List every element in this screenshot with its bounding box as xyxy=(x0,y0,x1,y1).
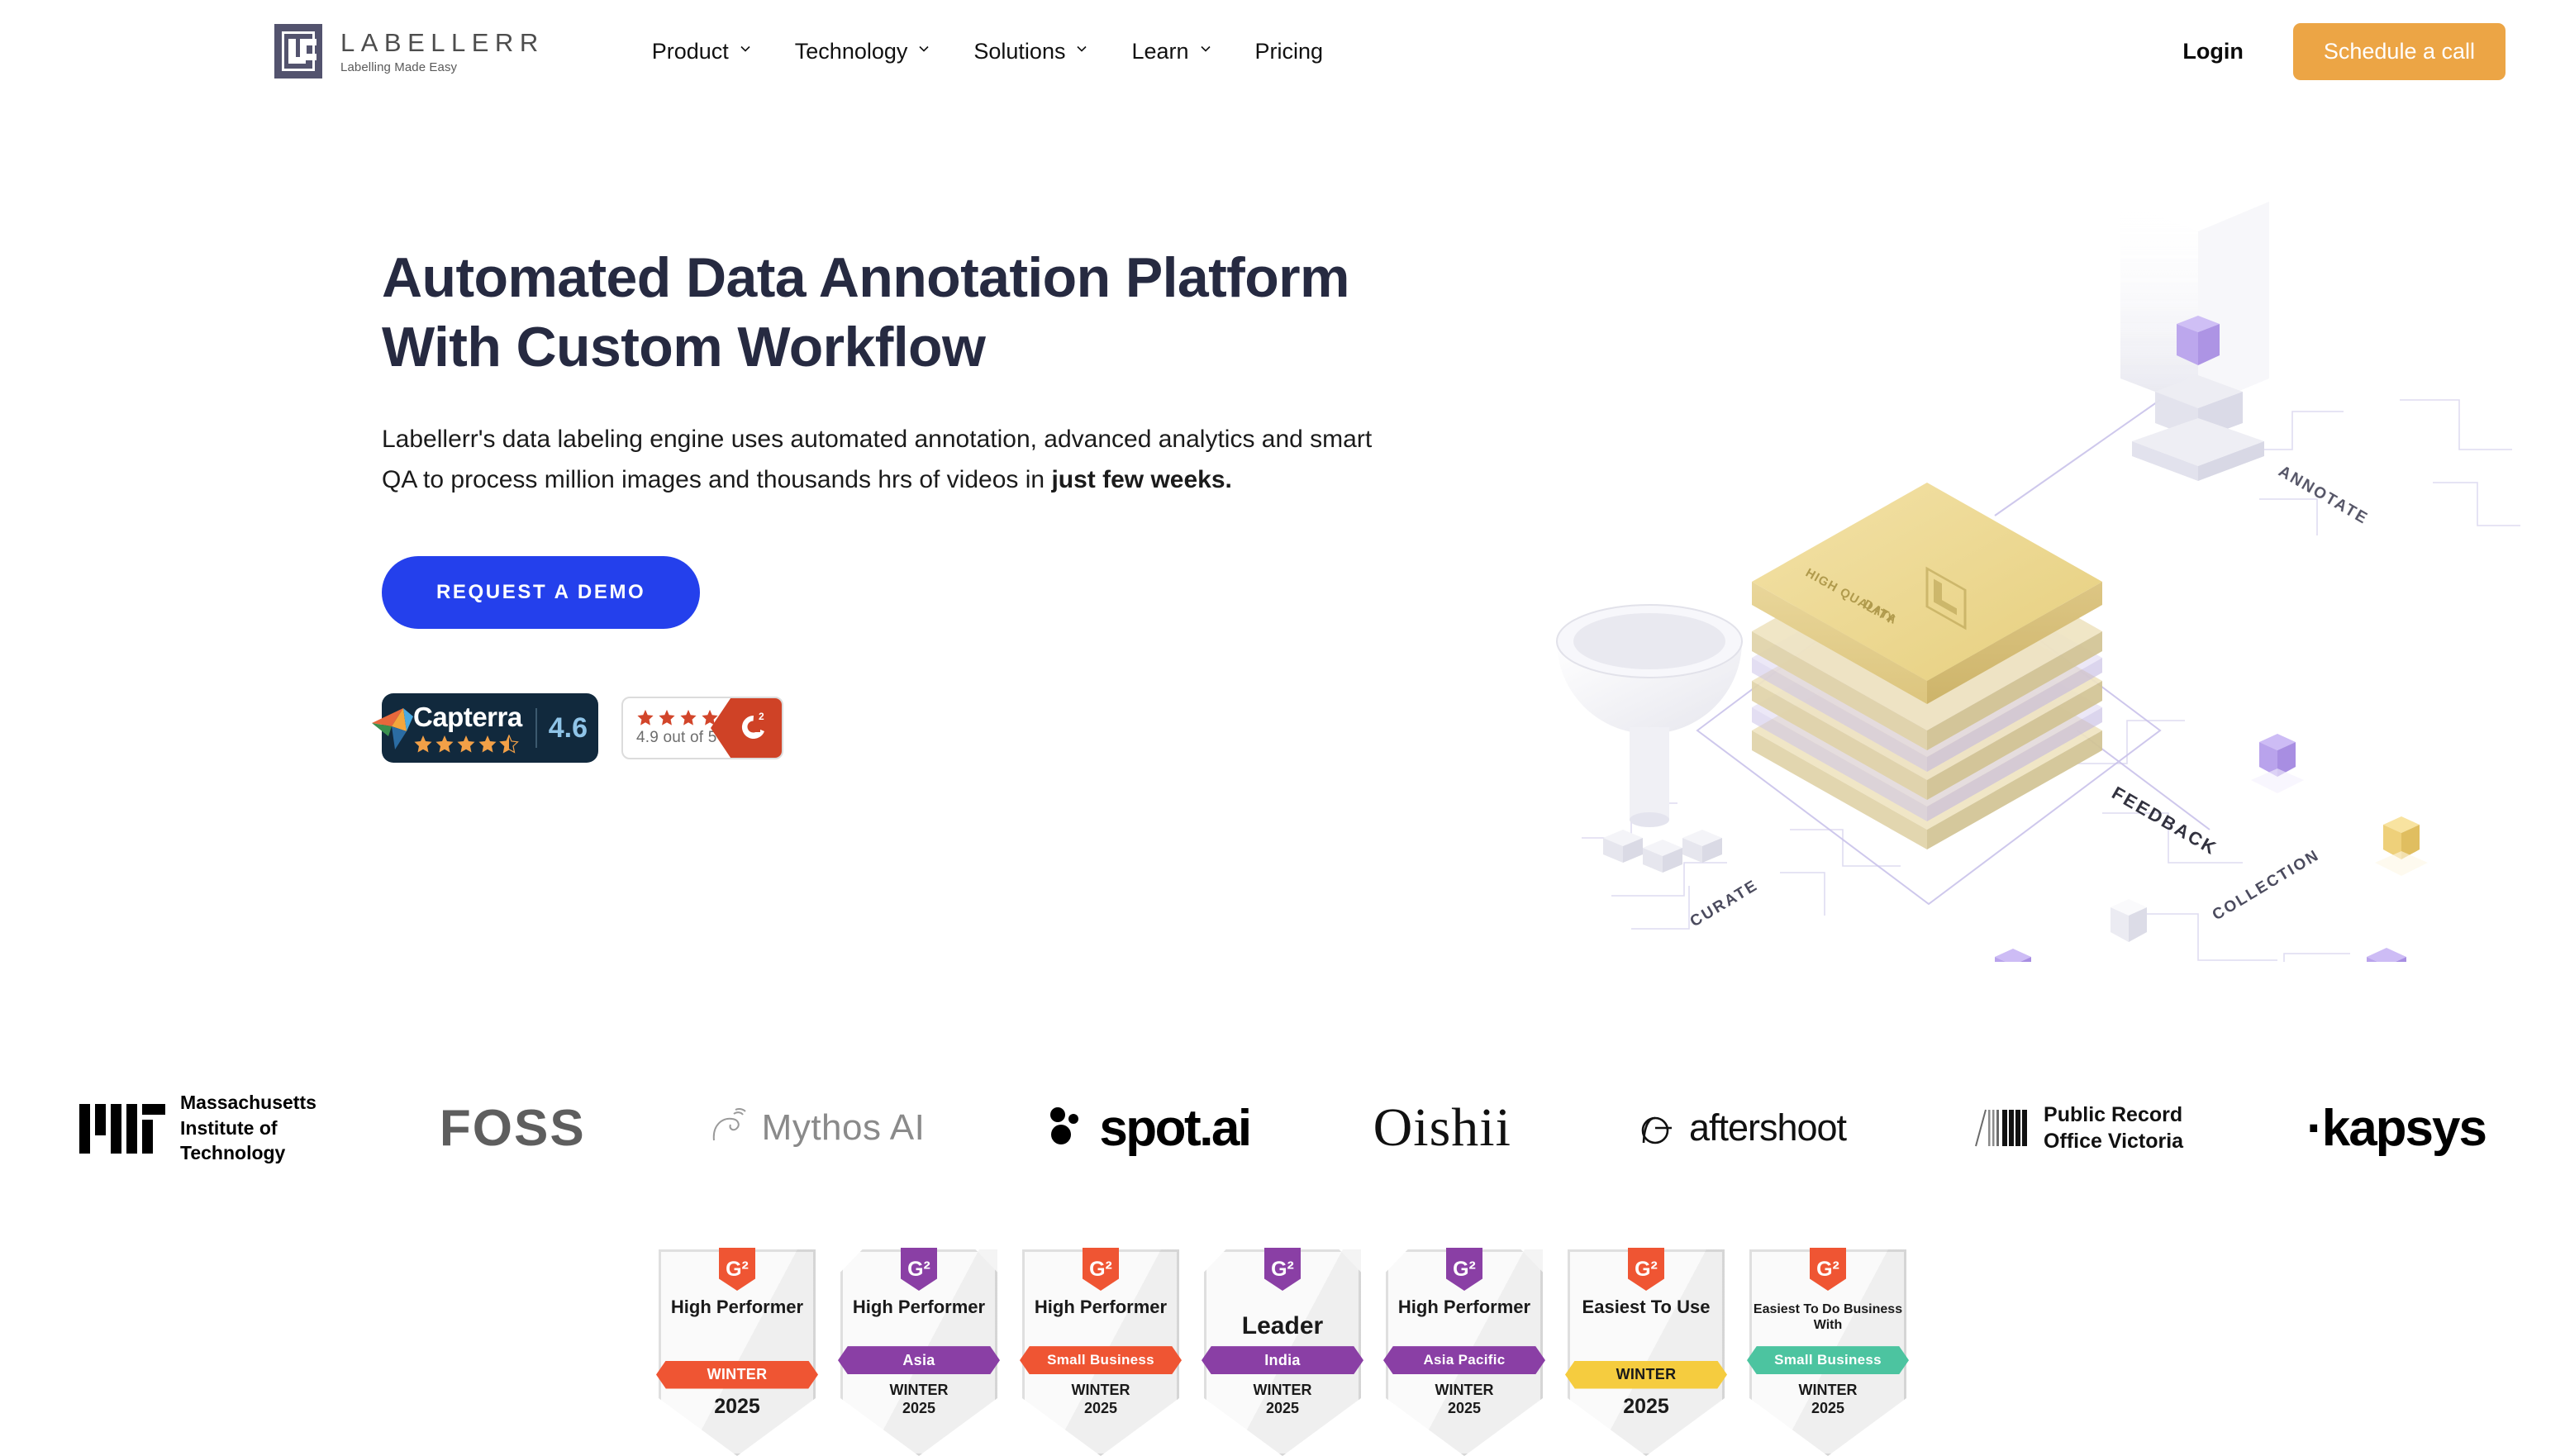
page-title: Automated Data Annotation Platform With … xyxy=(382,243,1373,383)
badge-year: 2025 xyxy=(714,1389,760,1456)
header-actions: Login Schedule a call xyxy=(2182,23,2506,80)
g2-badge[interactable]: G² Leader India WINTER 2025 xyxy=(1204,1249,1361,1456)
badge-ribbon: WINTER xyxy=(1565,1361,1727,1389)
request-a-demo-button[interactable]: REQUEST A DEMO xyxy=(382,556,700,629)
foss-logo: FOSS xyxy=(440,1082,586,1173)
illustration-label-annotate: ANNOTATE xyxy=(2276,463,2372,528)
badge-title: Easiest To Use xyxy=(1579,1297,1714,1318)
labellerr-logo-icon xyxy=(274,24,322,79)
badge-year: WINTER 2025 xyxy=(890,1374,949,1456)
chevron-down-icon xyxy=(1075,42,1088,55)
public-record-office-victoria-logo: Public Record Office Victoria xyxy=(1969,1082,2183,1173)
oishii-logo: Oishii xyxy=(1373,1082,1511,1173)
g2-badge[interactable]: G² High Performer Asia WINTER 2025 xyxy=(840,1249,997,1456)
chevron-down-icon xyxy=(1199,42,1212,55)
g2-badge[interactable]: G² Easiest To Do Business With Small Bus… xyxy=(1749,1249,1906,1456)
g2-logo-icon: 2 xyxy=(711,698,782,758)
badge-year: WINTER 2025 xyxy=(1254,1374,1312,1456)
nav-item-learn[interactable]: Learn xyxy=(1131,39,1211,64)
capterra-wordmark: Capterra xyxy=(413,703,522,730)
login-link[interactable]: Login xyxy=(2182,39,2243,64)
chevron-down-icon xyxy=(917,42,930,55)
g2-badge[interactable]: G² Easiest To Use WINTER 2025 xyxy=(1568,1249,1725,1456)
capterra-stars xyxy=(413,735,522,754)
g2-badge[interactable]: G² High Performer Asia Pacific WINTER 20… xyxy=(1386,1249,1543,1456)
mit-bars-icon xyxy=(79,1104,165,1152)
nav-item-product[interactable]: Product xyxy=(652,39,752,64)
capterra-rating-badge[interactable]: Capterra 4.6 xyxy=(382,693,598,763)
schedule-a-call-button[interactable]: Schedule a call xyxy=(2293,23,2506,80)
badge-title: Leader xyxy=(1239,1312,1326,1341)
badge-year: 2025 xyxy=(1623,1389,1669,1456)
prov-bars-icon xyxy=(1969,1109,2030,1147)
hero-subtitle: Labellerr's data labeling engine uses au… xyxy=(382,419,1402,500)
badge-ribbon: India xyxy=(1202,1346,1363,1374)
badge-ribbon: Small Business xyxy=(1020,1346,1182,1374)
mythos-wave-icon xyxy=(709,1107,750,1149)
nav-label: Product xyxy=(652,39,729,64)
brand-logo[interactable]: LABELLERR Labelling Made Easy xyxy=(274,24,545,79)
hero-subtitle-emphasis: just few weeks. xyxy=(1051,466,1231,493)
spot-ai-logo: spot.ai xyxy=(1048,1082,1249,1173)
g2-badge[interactable]: G² High Performer WINTER 2025 xyxy=(659,1249,816,1456)
site-header: LABELLERR Labelling Made Easy Product Te… xyxy=(0,0,2565,102)
chevron-down-icon xyxy=(739,42,752,55)
g2-rating-badge[interactable]: 4.9 out of 5 2 xyxy=(621,697,783,759)
g2-badge[interactable]: G² High Performer Small Business WINTER … xyxy=(1022,1249,1179,1456)
oishii-logo-text: Oishii xyxy=(1373,1097,1511,1159)
capterra-score: 4.6 xyxy=(549,712,588,745)
aftershoot-logo: aftershoot xyxy=(1635,1082,1846,1173)
badge-title: Easiest To Do Business With xyxy=(1749,1301,1906,1333)
illustration-label-feedback: FEEDBACK xyxy=(2109,783,2221,859)
mythos-logo-text: Mythos AI xyxy=(762,1107,926,1149)
badge-year: WINTER 2025 xyxy=(1072,1374,1130,1456)
prov-logo-text: Public Record Office Victoria xyxy=(2044,1102,2183,1155)
rating-badges: Capterra 4.6 xyxy=(382,693,1456,763)
hero-copy: Automated Data Annotation Platform With … xyxy=(382,102,1456,763)
mit-logo: Massachusetts Institute of Technology xyxy=(79,1082,316,1173)
brand-tagline: Labelling Made Easy xyxy=(340,60,545,74)
badge-ribbon: Asia xyxy=(838,1346,1000,1374)
nav-label: Solutions xyxy=(973,39,1065,64)
illustration-label-collection: COLLECTION xyxy=(2210,846,2323,924)
hero-illustration: ANNOTATE xyxy=(1532,202,2532,962)
badge-year: WINTER 2025 xyxy=(1799,1374,1858,1456)
g2-award-badges: G² High Performer WINTER 2025 G² High Pe… xyxy=(0,1249,2565,1456)
nav-item-pricing[interactable]: Pricing xyxy=(1255,39,1324,64)
badge-ribbon: WINTER xyxy=(656,1361,818,1389)
badge-title: High Performer xyxy=(849,1297,988,1318)
badge-title: High Performer xyxy=(1395,1297,1534,1318)
svg-text:2: 2 xyxy=(759,711,764,722)
badge-year: WINTER 2025 xyxy=(1435,1374,1494,1456)
nav-item-technology[interactable]: Technology xyxy=(795,39,931,64)
nav-label: Technology xyxy=(795,39,908,64)
nav-item-solutions[interactable]: Solutions xyxy=(973,39,1088,64)
kapsys-logo: ·kapsys xyxy=(2306,1082,2486,1173)
main-navigation: Product Technology Solutions Learn Prici… xyxy=(652,39,1323,64)
badge-ribbon: Small Business xyxy=(1747,1346,1909,1374)
badge-title: High Performer xyxy=(1031,1297,1170,1318)
spot-ai-logo-text: spot.ai xyxy=(1099,1099,1249,1158)
foss-logo-text: FOSS xyxy=(440,1099,586,1158)
aftershoot-logo-text: aftershoot xyxy=(1689,1106,1846,1149)
brand-name: LABELLERR xyxy=(340,28,545,58)
badge-title: High Performer xyxy=(668,1297,807,1318)
spot-ai-dots-icon xyxy=(1048,1105,1087,1152)
mit-logo-text: Massachusetts Institute of Technology xyxy=(180,1090,316,1165)
mythos-ai-logo: Mythos AI xyxy=(709,1082,926,1173)
capterra-flag-icon xyxy=(370,707,421,759)
badge-ribbon: Asia Pacific xyxy=(1383,1346,1545,1374)
hero-section: Automated Data Annotation Platform With … xyxy=(0,102,2565,763)
nav-label: Learn xyxy=(1131,39,1188,64)
illustration-label-curate: CURATE xyxy=(1687,877,1762,930)
kapsys-logo-text: ·kapsys xyxy=(2306,1099,2486,1158)
customer-logo-strip: Massachusetts Institute of Technology FO… xyxy=(0,1082,2565,1173)
nav-label: Pricing xyxy=(1255,39,1324,64)
aftershoot-mark-icon xyxy=(1635,1106,1676,1150)
